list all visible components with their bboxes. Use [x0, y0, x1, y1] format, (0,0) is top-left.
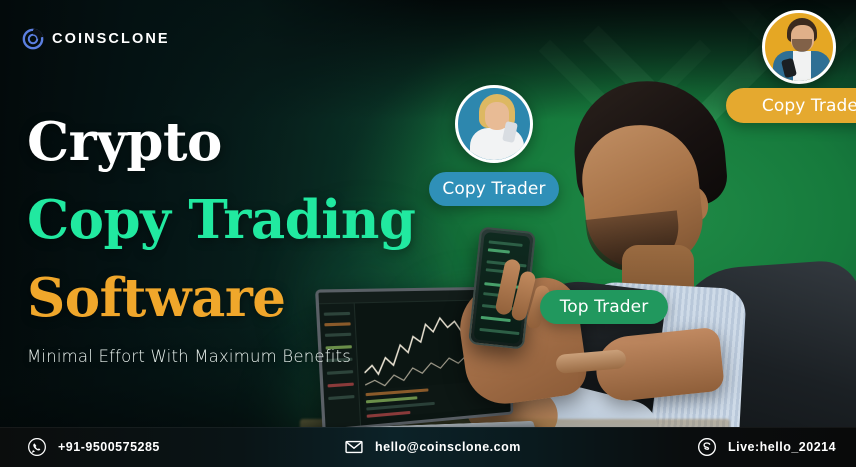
footer-skype-item[interactable]: Live:hello_20214: [697, 437, 836, 457]
headline-line-2: Copy Trading: [27, 181, 415, 259]
footer-skype-text: Live:hello_20214: [728, 440, 836, 454]
whatsapp-icon: [27, 437, 47, 457]
man-with-phone-avatar: [762, 10, 836, 84]
promo-banner: COINSCLONE Crypto Copy Trading Software …: [0, 0, 856, 467]
woman-with-phone-avatar: [455, 85, 533, 163]
footer-email-text: hello@coinsclone.com: [375, 440, 521, 454]
coinsclone-circle-icon: [22, 28, 44, 50]
contact-footer-bar: +91-9500575285 hello@coinsclone.com Live…: [0, 427, 856, 467]
headline-line-1: Crypto: [27, 103, 415, 181]
envelope-icon: [344, 437, 364, 457]
footer-email-item[interactable]: hello@coinsclone.com: [344, 437, 521, 457]
badge-copy-trader-woman[interactable]: Copy Trader: [429, 172, 559, 206]
footer-phone-text: +91-9500575285: [58, 440, 160, 454]
headline-block: Crypto Copy Trading Software: [27, 103, 415, 337]
badge-copy-trader-man[interactable]: Copy Trader: [726, 88, 856, 123]
badge-top-trader[interactable]: Top Trader: [540, 290, 668, 324]
brand-logo[interactable]: COINSCLONE: [22, 28, 170, 50]
headline-line-3: Software: [27, 259, 415, 337]
brand-name: COINSCLONE: [52, 31, 170, 47]
skype-icon: [697, 437, 717, 457]
footer-phone-item[interactable]: +91-9500575285: [27, 437, 160, 457]
subtitle-text: Minimal Effort With Maximum Benefits: [27, 347, 351, 366]
